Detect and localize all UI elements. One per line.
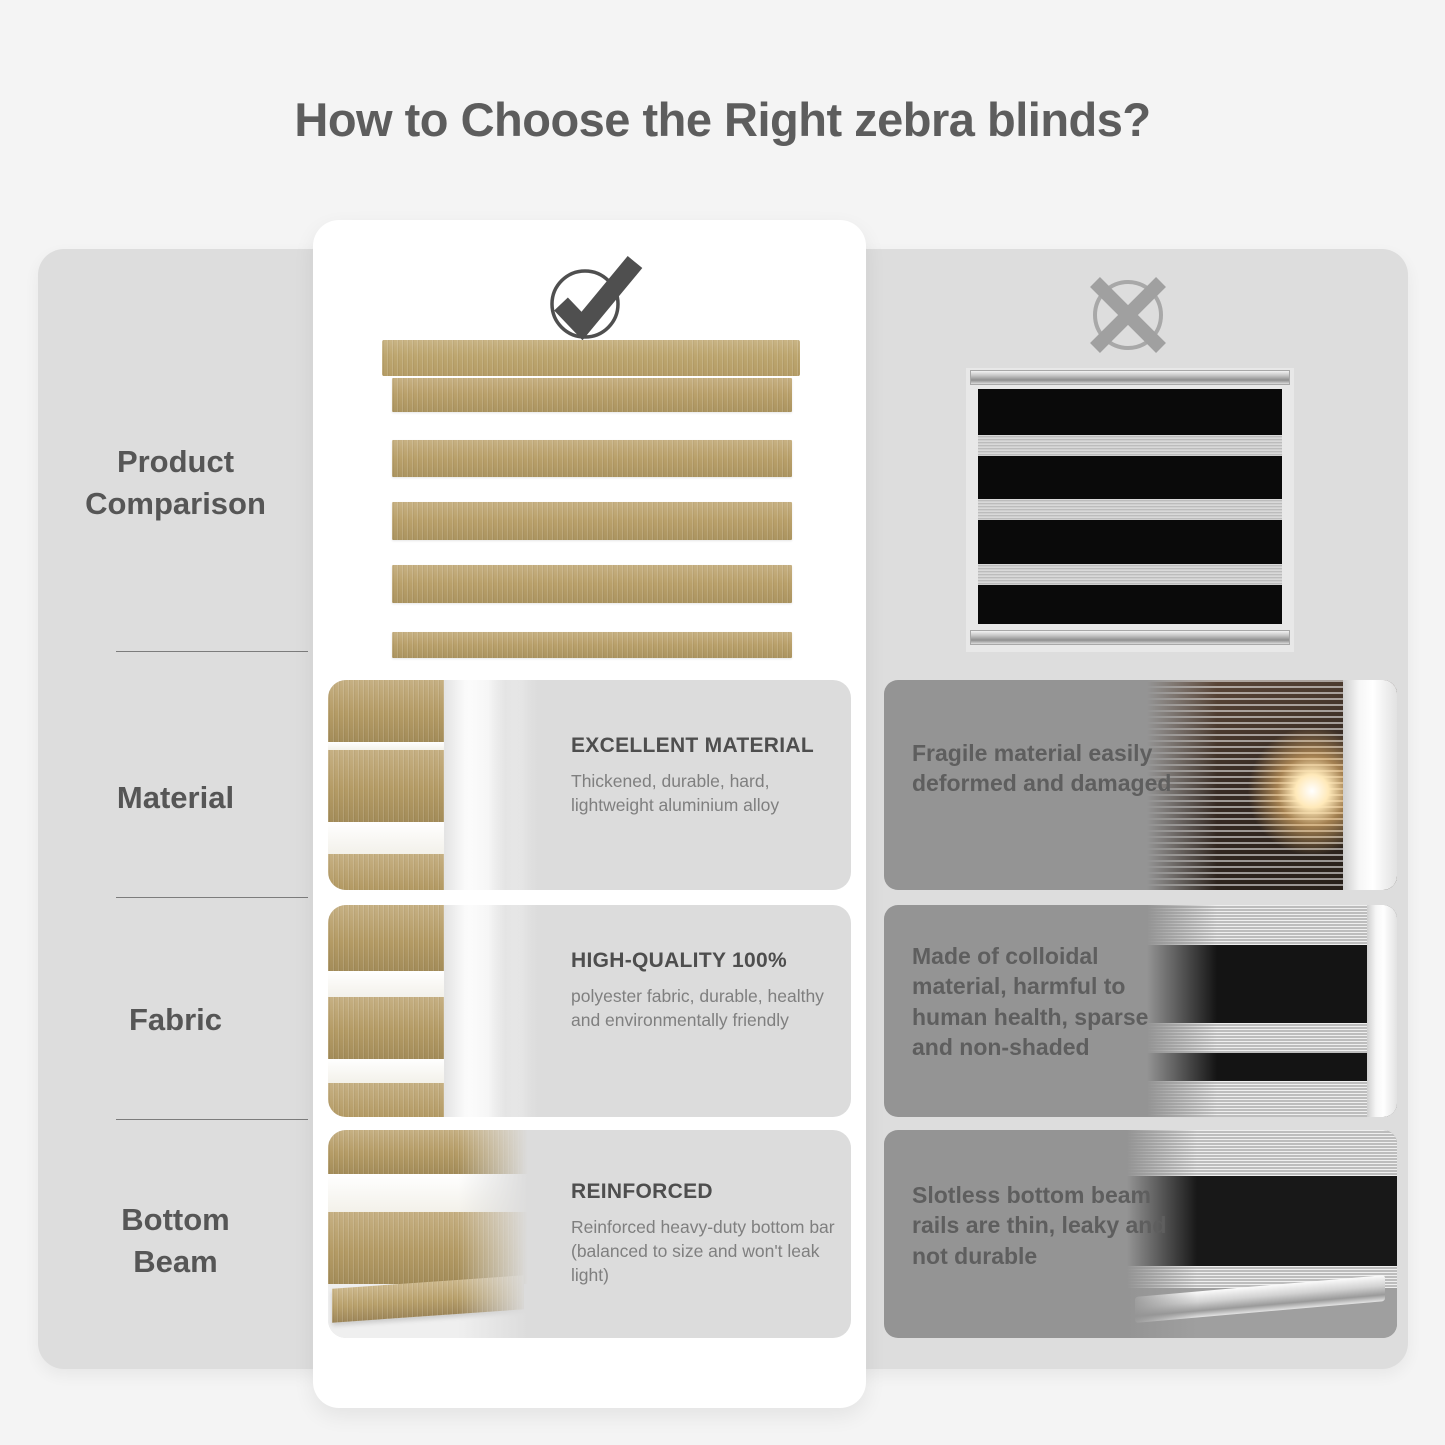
good-feature-body: Reinforced heavy-duty bottom bar (balanc… [571,1215,839,1287]
cross-circle-icon [1078,268,1178,363]
good-feature-card-bottom-beam: REINFORCED Reinforced heavy-duty bottom … [328,1130,851,1338]
row-divider-2 [116,897,308,898]
hero-black-zebra-blind [966,368,1294,652]
good-feature-card-material: EXCELLENT MATERIAL Thickened, durable, h… [328,680,851,890]
good-feature-heading: EXCELLENT MATERIAL [571,734,839,758]
bad-feature-text-fabric: Made of colloidal material, harmful to h… [912,941,1182,1062]
black-sheer-blind-photo [1147,905,1397,1117]
row-label-bottom-beam: Bottom Beam [38,1199,313,1283]
tan-headrail [382,340,800,376]
sunlight-leaking-window-photo [1147,680,1397,890]
bad-feature-card-fabric: Made of colloidal material, harmful to h… [884,905,1397,1117]
row-divider-1 [116,651,308,652]
row-divider-3 [116,1119,308,1120]
good-feature-text-fabric: HIGH-QUALITY 100% polyester fabric, dura… [571,949,839,1032]
page-title: How to Choose the Right zebra blinds? [0,92,1445,147]
good-feature-body: Thickened, durable, hard, lightweight al… [571,769,839,817]
tan-band [392,440,792,477]
infographic-page: How to Choose the Right zebra blinds? Pr… [0,0,1445,1445]
good-feature-card-fabric: HIGH-QUALITY 100% polyester fabric, dura… [328,905,851,1117]
bad-feature-card-bottom-beam: Slotless bottom beam rails are thin, lea… [884,1130,1397,1338]
bad-feature-text-bottom-beam: Slotless bottom beam rails are thin, lea… [912,1180,1182,1271]
good-feature-text-material: EXCELLENT MATERIAL Thickened, durable, h… [571,734,839,817]
row-label-material: Material [38,777,313,819]
good-feature-heading: REINFORCED [571,1180,839,1204]
tan-band [392,502,792,540]
row-label-fabric: Fabric [38,999,313,1041]
tan-blind-fabric-closeup-photo [328,905,540,1117]
row-label-column: Product Comparison Material Fabric Botto… [38,249,313,1369]
hero-tan-zebra-blind [382,340,802,668]
tan-band [392,378,792,412]
good-feature-body: polyester fabric, durable, healthy and e… [571,984,839,1032]
good-feature-text-bottom-beam: REINFORCED Reinforced heavy-duty bottom … [571,1180,839,1287]
row-label-product-comparison: Product Comparison [38,441,313,525]
bad-feature-text-material: Fragile material easily deformed and dam… [912,738,1182,799]
tan-band [392,565,792,603]
black-headrail [970,370,1290,385]
tan-blind-bottom-bar-closeup-photo [328,1130,528,1338]
tan-blind-window-closeup-photo [328,680,540,890]
black-blind-body [978,389,1282,624]
tan-bottom-bar [392,632,792,658]
bad-feature-card-material: Fragile material easily deformed and dam… [884,680,1397,890]
good-feature-heading: HIGH-QUALITY 100% [571,949,839,973]
black-bottom-rail [970,630,1290,645]
check-circle-icon [535,252,645,347]
